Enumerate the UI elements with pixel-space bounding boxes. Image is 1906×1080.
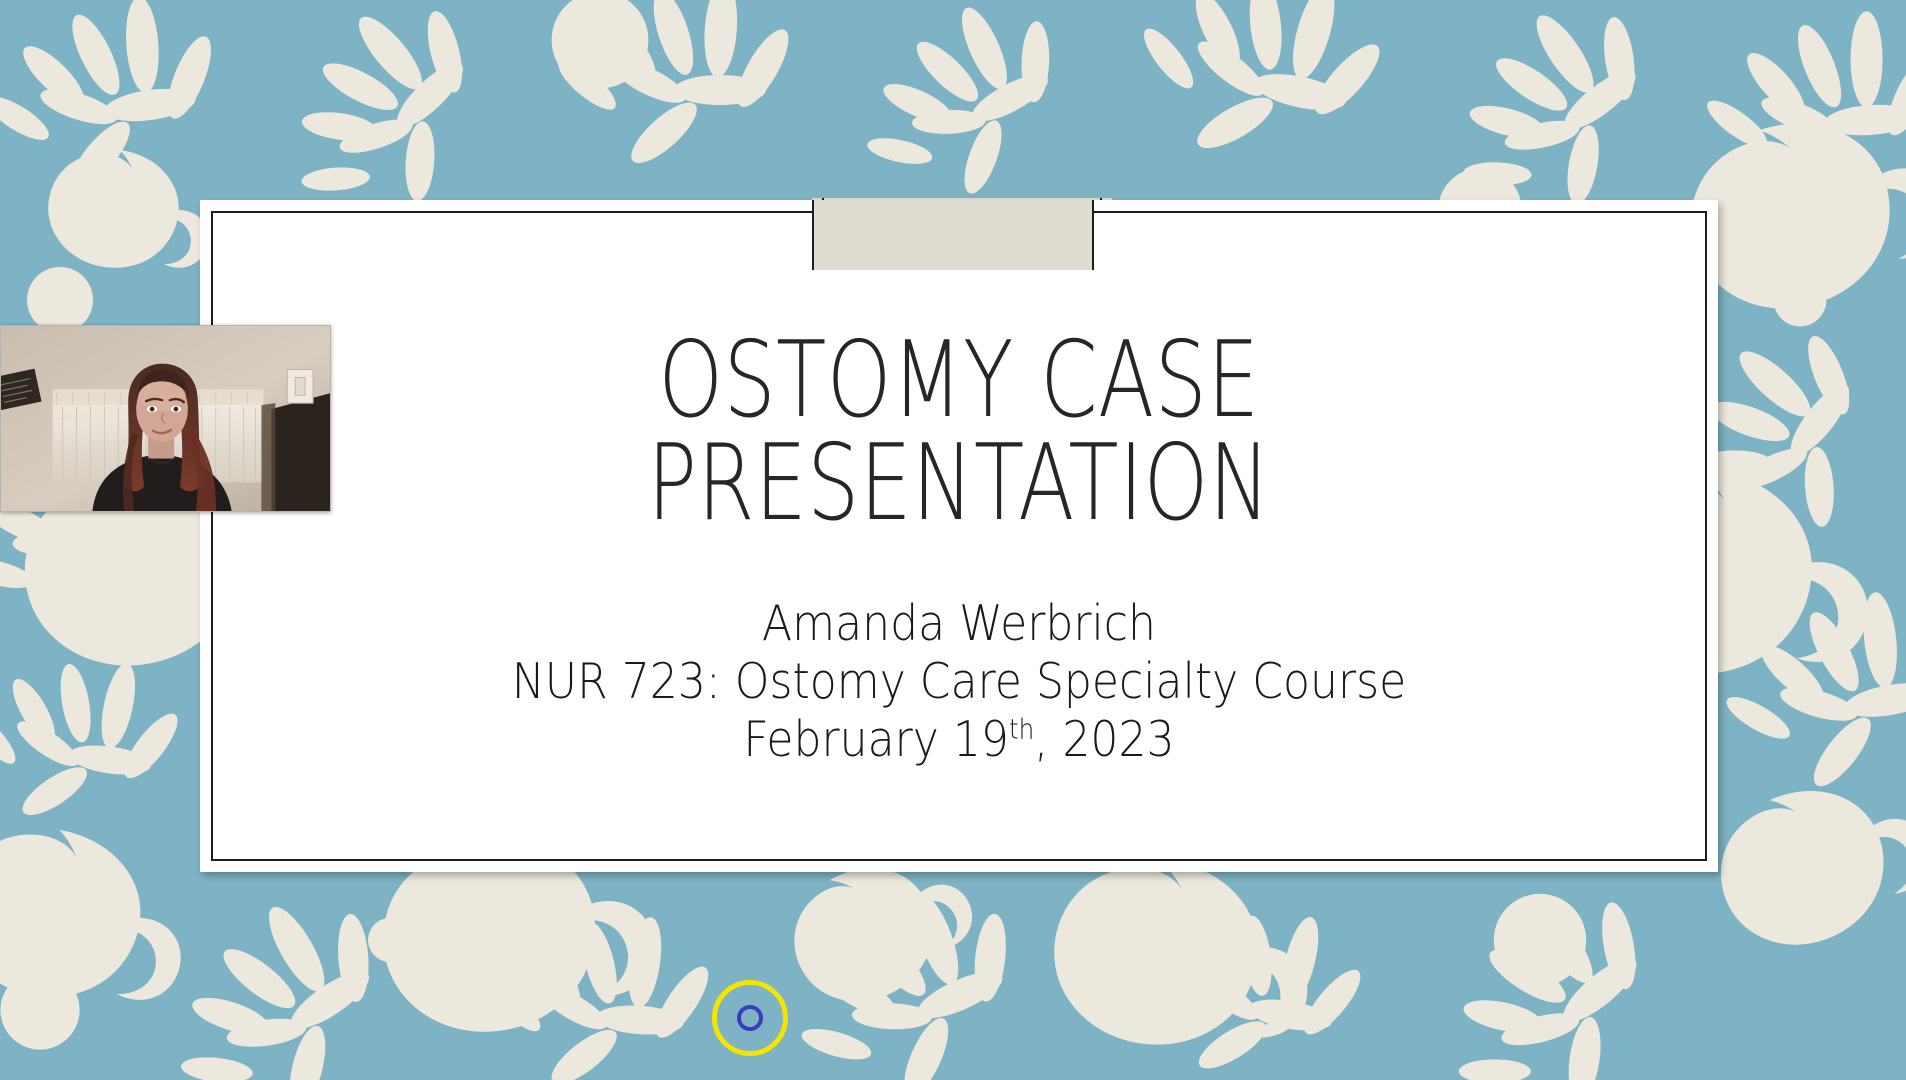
click-highlight-inner-ring bbox=[737, 1005, 763, 1031]
presentation-date: February 19th, 2023 bbox=[397, 711, 1522, 769]
page-title-line-1: OSTOMY CASE bbox=[469, 327, 1448, 436]
presentation-slide[interactable]: OSTOMY CASE PRESENTATION Amanda Werbrich… bbox=[200, 200, 1718, 872]
slide-subtitle: Amanda Werbrich NUR 723: Ostomy Care Spe… bbox=[334, 595, 1584, 768]
date-year: , 2023 bbox=[1034, 711, 1174, 768]
date-prefix: February 19 bbox=[743, 711, 1009, 768]
presenter-name: Amanda Werbrich bbox=[397, 595, 1522, 653]
slide-tab-overlap-border bbox=[812, 200, 1094, 270]
course-name: NUR 723: Ostomy Care Specialty Course bbox=[397, 653, 1522, 711]
date-ordinal-suffix: th bbox=[1009, 714, 1034, 745]
slide-tab-overlap bbox=[812, 200, 1094, 270]
page-title: OSTOMY CASE PRESENTATION bbox=[369, 330, 1549, 536]
page-title-line-2: PRESENTATION bbox=[469, 430, 1448, 539]
click-highlight-icon bbox=[712, 980, 788, 1056]
slideshow-stage: OSTOMY CASE PRESENTATION Amanda Werbrich… bbox=[0, 0, 1906, 1080]
presenter-webcam-feed[interactable] bbox=[0, 325, 331, 512]
slide-content: OSTOMY CASE PRESENTATION Amanda Werbrich… bbox=[200, 200, 1718, 872]
